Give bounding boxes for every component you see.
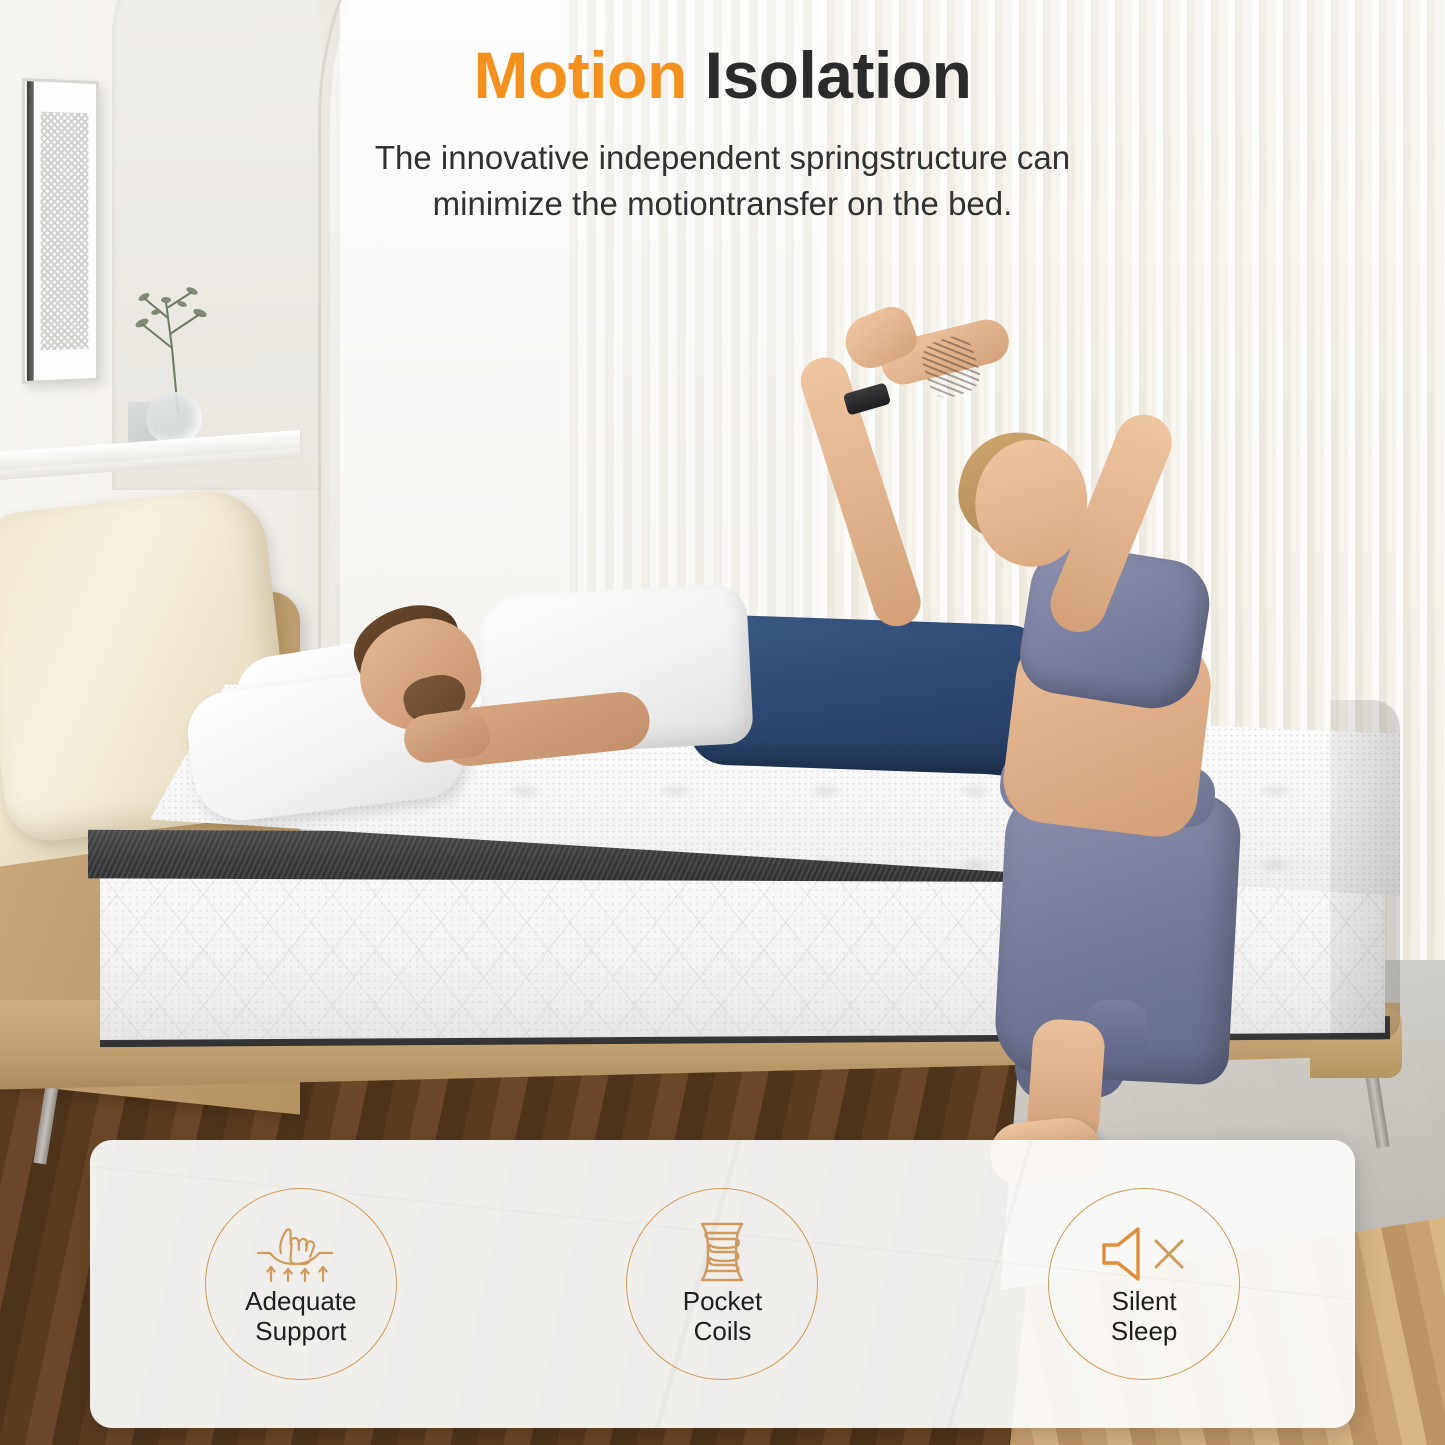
hand-pressing-support-icon <box>253 1221 349 1283</box>
artwork-print <box>41 112 89 351</box>
title-highlight: Motion <box>474 38 687 112</box>
page-subtitle: The innovative independent springstructu… <box>215 135 1230 226</box>
feature-label-line-1: Pocket <box>683 1287 763 1317</box>
feature-adequate-support[interactable]: Adequate Support <box>205 1188 397 1380</box>
muted-speaker-icon <box>1098 1221 1190 1283</box>
feature-label-silent-sleep: Silent Sleep <box>1111 1287 1178 1347</box>
glass-vase <box>146 392 202 444</box>
product-marketing-image: Motion Isolation The innovative independ… <box>0 0 1445 1445</box>
pocket-coil-spring-icon <box>686 1221 758 1283</box>
framed-artwork <box>22 78 99 384</box>
subtitle-line-2: minimize the motiontransfer on the bed. <box>215 181 1230 227</box>
feature-label-line-2: Sleep <box>1111 1317 1178 1347</box>
feature-label-line-1: Adequate <box>245 1287 356 1317</box>
feature-silent-sleep[interactable]: Silent Sleep <box>1048 1188 1240 1380</box>
page-title: Motion Isolation <box>0 42 1445 108</box>
plant-branch-icon <box>120 262 230 412</box>
feature-label-line-2: Coils <box>683 1317 763 1347</box>
feature-label-adequate-support: Adequate Support <box>245 1287 356 1347</box>
mattress-corner-shadow <box>1330 700 1400 1040</box>
feature-label-line-1: Silent <box>1111 1287 1178 1317</box>
feature-label-line-2: Support <box>245 1317 356 1347</box>
feature-card: Adequate Support <box>90 1140 1355 1428</box>
feature-pocket-coils[interactable]: Pocket Coils <box>626 1188 818 1380</box>
feature-label-pocket-coils: Pocket Coils <box>683 1287 763 1347</box>
title-rest: Isolation <box>705 38 972 112</box>
subtitle-line-1: The innovative independent springstructu… <box>215 135 1230 181</box>
